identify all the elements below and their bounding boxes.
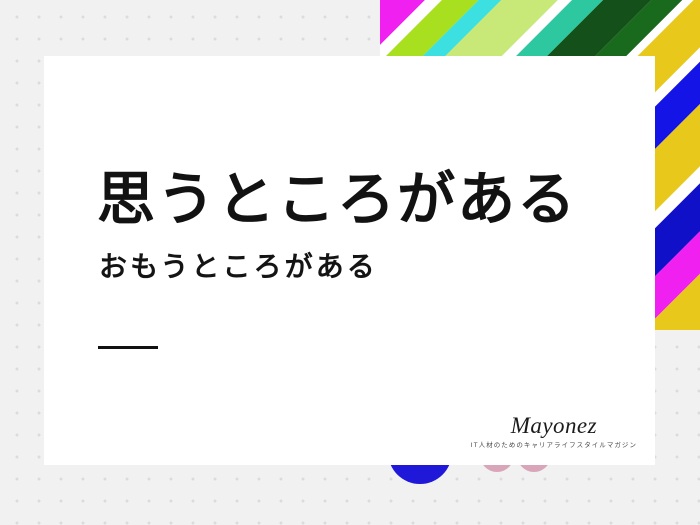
brand-lockup: Mayonez IT人材のためのキャリアライフスタイルマガジン bbox=[471, 414, 637, 450]
content-card: 思うところがある おもうところがある Mayonez IT人材のためのキャリアラ… bbox=[44, 56, 655, 465]
page-title: 思うところがある bbox=[97, 168, 577, 233]
slide-canvas: 思うところがある おもうところがある Mayonez IT人材のためのキャリアラ… bbox=[0, 0, 700, 525]
divider-rule bbox=[98, 346, 158, 349]
title-reading: おもうところがある bbox=[99, 251, 378, 285]
brand-tagline: IT人材のためのキャリアライフスタイルマガジン bbox=[471, 443, 637, 450]
brand-name: Mayonez bbox=[471, 414, 637, 437]
